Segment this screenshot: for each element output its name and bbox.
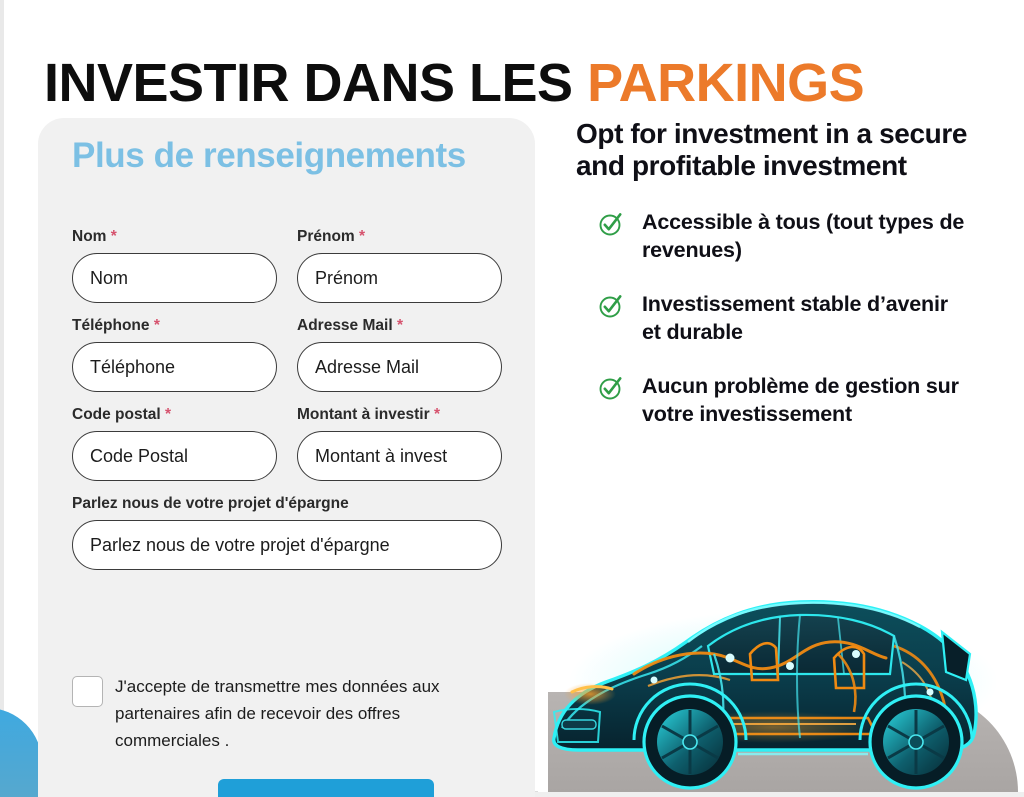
submit-button[interactable] — [218, 779, 434, 797]
input-nom[interactable] — [72, 253, 277, 303]
check-circle-icon — [598, 211, 624, 237]
page-title: INVESTIR DANS LES PARKINGS — [44, 52, 994, 114]
required-marker: * — [397, 317, 403, 334]
form-row-1: Nom * Prénom * — [72, 228, 502, 317]
label-telephone-text: Téléphone — [72, 317, 150, 334]
field-telephone: Téléphone * — [72, 317, 277, 392]
input-prenom[interactable] — [297, 253, 502, 303]
label-montant: Montant à investir * — [297, 406, 502, 424]
label-telephone: Téléphone * — [72, 317, 277, 335]
page-title-accent: PARKINGS — [587, 53, 864, 113]
label-code-postal-text: Code postal — [72, 406, 161, 423]
required-marker: * — [434, 406, 440, 423]
benefit-item: Investissement stable d’avenir et durabl… — [576, 290, 996, 346]
benefit-text: Aucun problème de gestion sur votre inve… — [642, 372, 972, 428]
form-row-2: Téléphone * Adresse Mail * — [72, 317, 502, 406]
left-edge-rule — [0, 0, 4, 797]
consent-row[interactable]: J'accepte de transmettre mes données aux… — [72, 673, 512, 754]
benefit-item: Accessible à tous (tout types de revenue… — [576, 208, 996, 264]
car-illustration-panel — [538, 562, 1024, 792]
benefit-text: Accessible à tous (tout types de revenue… — [642, 208, 972, 264]
poster-page: INVESTIR DANS LES PARKINGS Plus de rense… — [0, 0, 1024, 797]
form-row-3: Code postal * Montant à investir * — [72, 406, 502, 495]
input-adresse-mail[interactable] — [297, 342, 502, 392]
xray-car-icon — [538, 562, 1024, 792]
label-adresse-mail-text: Adresse Mail — [297, 317, 393, 334]
contact-form-card: Plus de renseignements Nom * Prénom * Té… — [38, 118, 535, 797]
decorative-blue-blob — [0, 708, 42, 797]
consent-checkbox[interactable] — [72, 676, 103, 707]
field-montant: Montant à investir * — [297, 406, 502, 481]
input-montant[interactable] — [297, 431, 502, 481]
field-nom: Nom * — [72, 228, 277, 303]
benefits-column: Opt for investment in a secure and profi… — [576, 118, 996, 454]
input-projet[interactable] — [72, 520, 502, 570]
form-row-4: Parlez nous de votre projet d'épargne — [72, 495, 502, 584]
label-projet: Parlez nous de votre projet d'épargne — [72, 495, 502, 513]
input-telephone[interactable] — [72, 342, 277, 392]
consent-label: J'accepte de transmettre mes données aux… — [115, 673, 495, 754]
form-fields: Nom * Prénom * Téléphone * Adresse Mail … — [72, 228, 502, 584]
label-code-postal: Code postal * — [72, 406, 277, 424]
benefit-text: Investissement stable d’avenir et durabl… — [642, 290, 972, 346]
required-marker: * — [111, 228, 117, 245]
check-circle-icon — [598, 293, 624, 319]
required-marker: * — [359, 228, 365, 245]
field-prenom: Prénom * — [297, 228, 502, 303]
label-prenom-text: Prénom — [297, 228, 355, 245]
benefits-heading: Opt for investment in a secure and profi… — [576, 118, 996, 182]
required-marker: * — [165, 406, 171, 423]
benefit-item: Aucun problème de gestion sur votre inve… — [576, 372, 996, 428]
field-projet: Parlez nous de votre projet d'épargne — [72, 495, 502, 570]
label-nom-text: Nom — [72, 228, 106, 245]
input-code-postal[interactable] — [72, 431, 277, 481]
label-montant-text: Montant à investir — [297, 406, 430, 423]
label-nom: Nom * — [72, 228, 277, 246]
label-adresse-mail: Adresse Mail * — [297, 317, 502, 335]
field-adresse-mail: Adresse Mail * — [297, 317, 502, 392]
form-heading: Plus de renseignements — [72, 136, 466, 176]
required-marker: * — [154, 317, 160, 334]
field-code-postal: Code postal * — [72, 406, 277, 481]
page-title-primary: INVESTIR DANS LES — [44, 53, 587, 113]
label-prenom: Prénom * — [297, 228, 502, 246]
check-circle-icon — [598, 375, 624, 401]
